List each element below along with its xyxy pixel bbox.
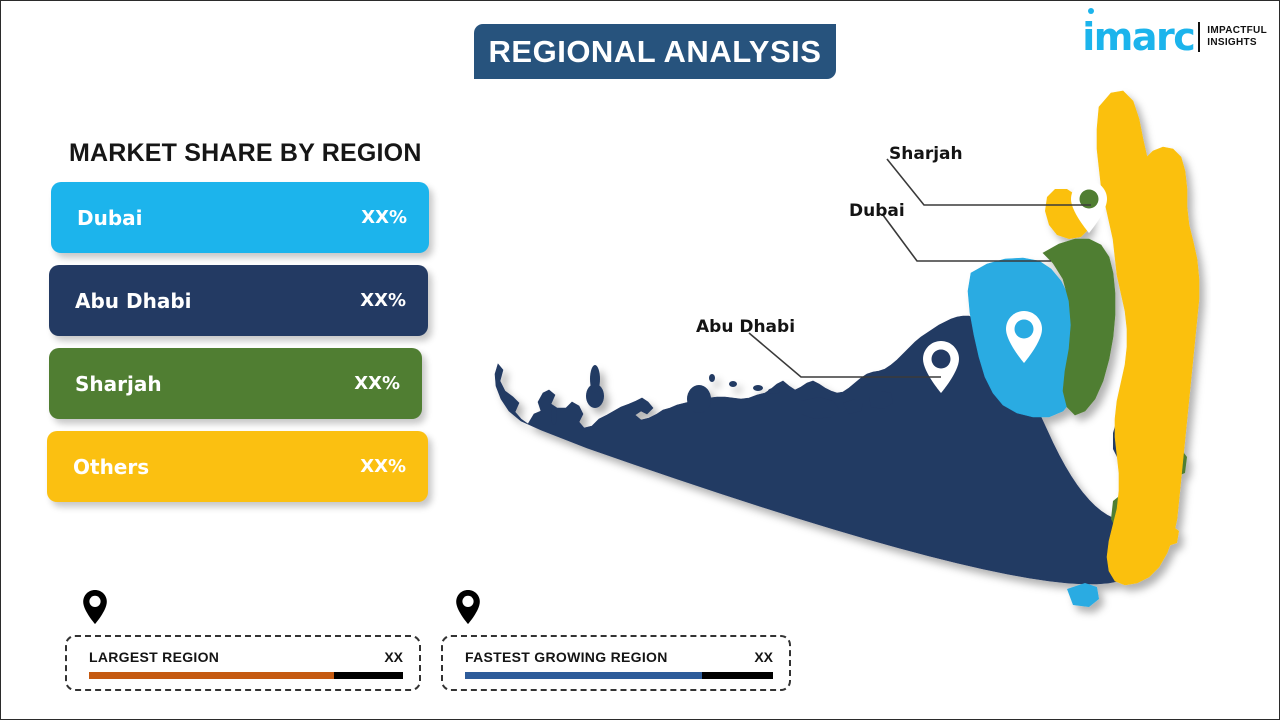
share-bar-label: Abu Dhabi — [75, 289, 192, 313]
imarc-logo: imarc IMPACTFUL INSIGHTS — [1082, 15, 1267, 59]
share-bar-label: Others — [73, 455, 149, 479]
map-island — [687, 385, 711, 413]
uae-map[interactable]: Sharjah Dubai Abu Dhabi — [471, 81, 1211, 641]
map-region-dubai-hatta — [1067, 583, 1099, 607]
share-bar-value: XX% — [361, 207, 407, 228]
fastest-growing-region-label: FASTEST GROWING REGION — [465, 649, 668, 665]
largest-region-progress-fill — [89, 672, 334, 679]
largest-region-progress-track — [89, 672, 403, 679]
share-bar-label: Dubai — [77, 206, 143, 230]
share-bar-abu-dhabi[interactable]: Abu Dhabi XX% — [49, 265, 428, 336]
share-bar-value: XX% — [360, 456, 406, 477]
logo-tagline-line1: IMPACTFUL — [1207, 25, 1267, 37]
largest-region-callout[interactable]: LARGEST REGION XX — [65, 635, 421, 691]
map-island — [729, 381, 737, 387]
logo-tagline-line2: INSIGHTS — [1207, 37, 1267, 49]
share-bar-label: Sharjah — [75, 372, 162, 396]
map-landmass-group — [495, 91, 1199, 607]
fastest-growing-region-value: XX — [754, 649, 773, 665]
page-title: REGIONAL ANALYSIS — [489, 34, 822, 70]
market-share-bar-list: Dubai XX% Abu Dhabi XX% Sharjah XX% Othe… — [1, 182, 451, 514]
share-bar-value: XX% — [360, 290, 406, 311]
fastest-growing-region-callout[interactable]: FASTEST GROWING REGION XX — [441, 635, 791, 691]
market-share-heading: MARKET SHARE BY REGION — [69, 139, 422, 168]
largest-region-value: XX — [384, 649, 403, 665]
share-bar-value: XX% — [354, 373, 400, 394]
logo-tagline: IMPACTFUL INSIGHTS — [1207, 25, 1267, 49]
page-title-banner: REGIONAL ANALYSIS — [474, 24, 836, 79]
slide-regional-analysis: REGIONAL ANALYSIS imarc IMPACTFUL INSIGH… — [0, 0, 1280, 720]
largest-region-label: LARGEST REGION — [89, 649, 219, 665]
logo-wordmark: imarc — [1082, 18, 1194, 56]
fastest-growing-region-progress-fill — [465, 672, 702, 679]
share-bar-others[interactable]: Others XX% — [47, 431, 428, 502]
logo-dot-icon — [1088, 8, 1094, 14]
map-label-sharjah: Sharjah — [889, 144, 963, 164]
fastest-growing-region-progress-track — [465, 672, 773, 679]
map-island — [768, 388, 780, 394]
map-island — [590, 365, 600, 393]
map-label-dubai: Dubai — [849, 201, 905, 221]
logo-divider — [1198, 22, 1200, 52]
map-island — [753, 385, 763, 391]
leader-line-dubai — [883, 215, 1051, 261]
share-bar-dubai[interactable]: Dubai XX% — [51, 182, 429, 253]
map-island — [709, 374, 715, 382]
map-label-abu-dhabi: Abu Dhabi — [696, 317, 795, 337]
map-pin-icon — [81, 589, 109, 625]
share-bar-sharjah[interactable]: Sharjah XX% — [49, 348, 422, 419]
map-island — [551, 407, 557, 425]
